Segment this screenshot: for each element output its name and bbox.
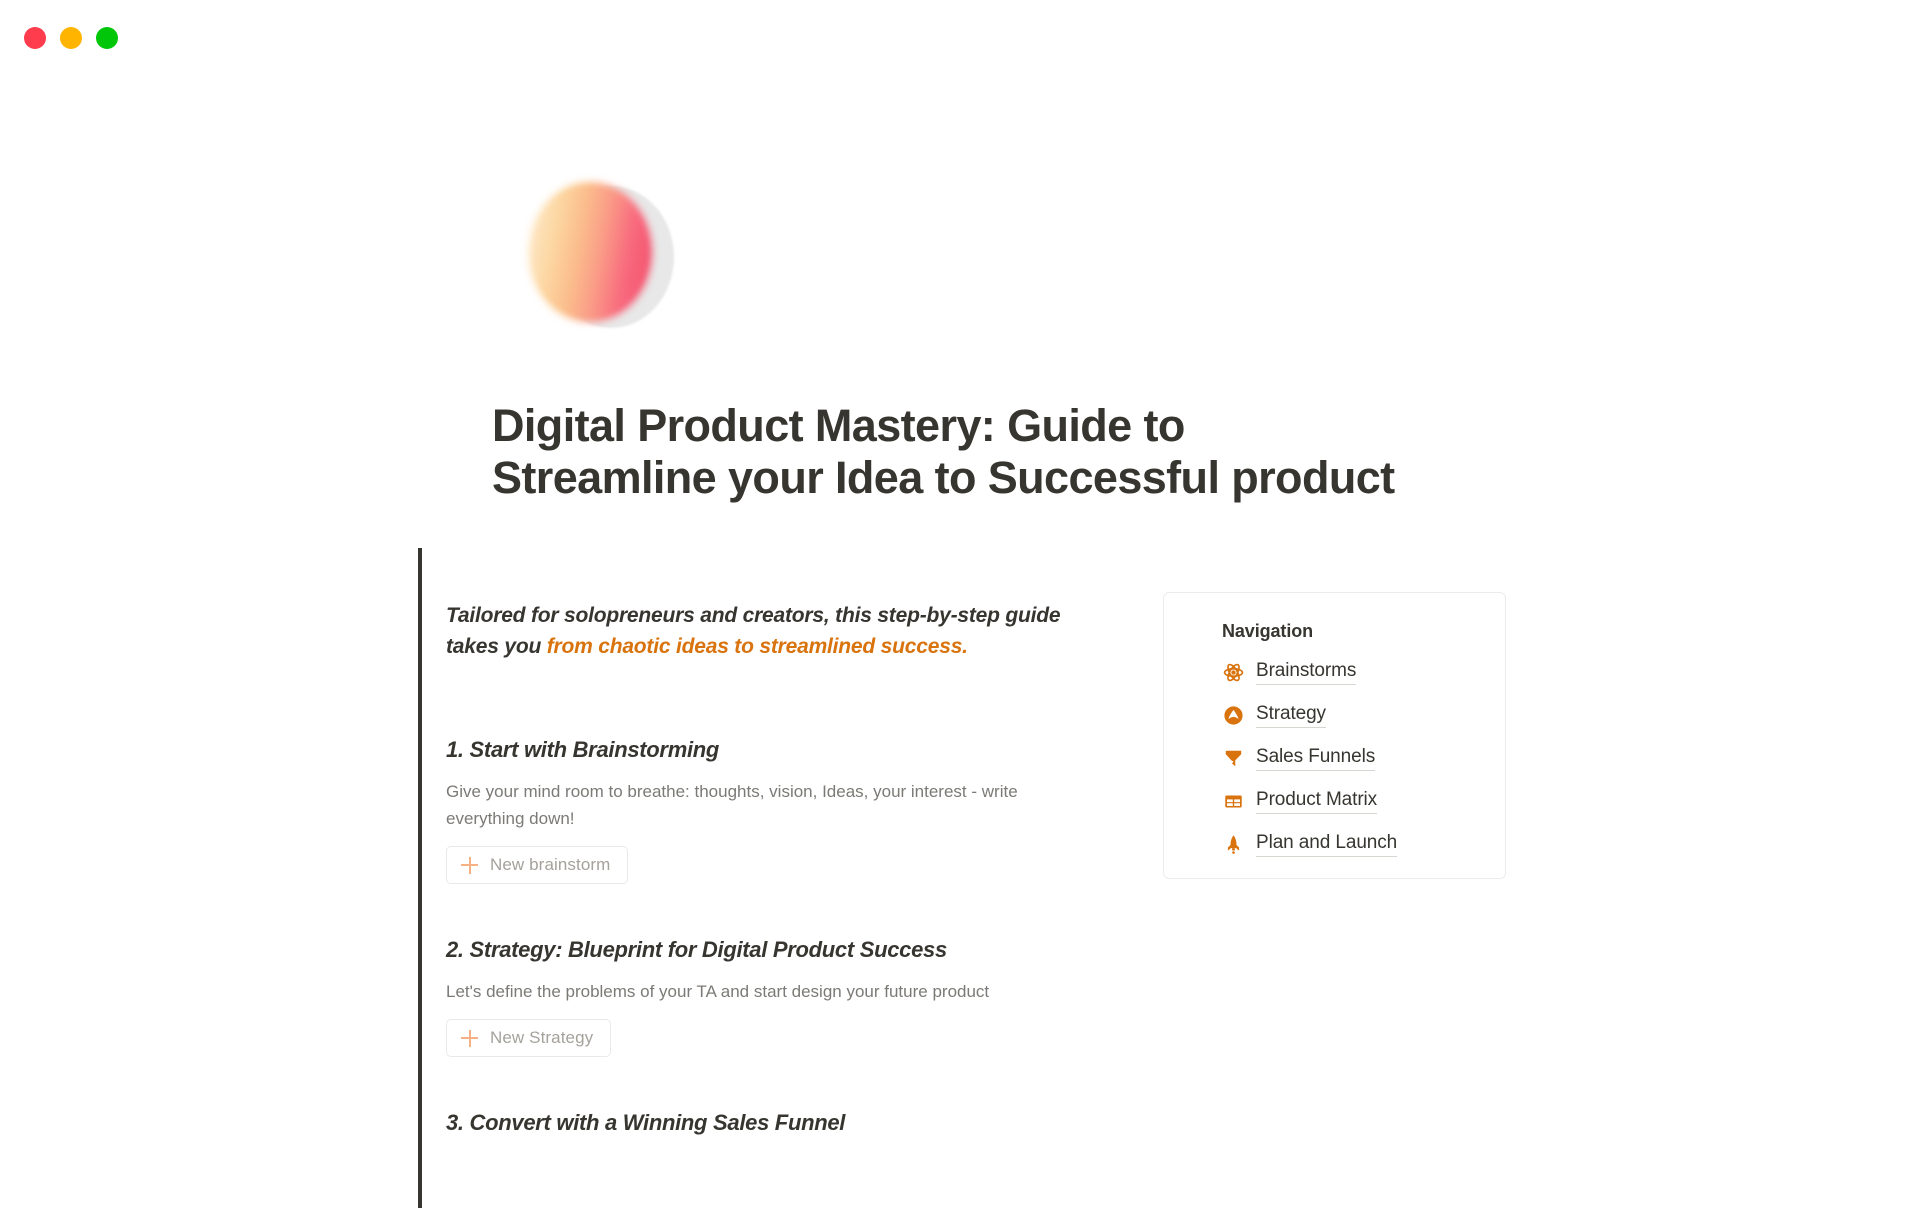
section-body: Give your mind room to breathe: thoughts…	[446, 778, 1076, 832]
page-cover-icon[interactable]	[522, 178, 672, 333]
section-body: Let's define the problems of your TA and…	[446, 978, 1076, 1005]
nav-item-label: Strategy	[1256, 703, 1326, 728]
window-maximize-button[interactable]	[96, 27, 118, 49]
rocket-icon	[1222, 834, 1244, 856]
window-minimize-button[interactable]	[60, 27, 82, 49]
section-sales-funnel: 3. Convert with a Winning Sales Funnel	[446, 1109, 1126, 1137]
app-page: Digital Product Mastery: Guide to Stream…	[0, 0, 1920, 1200]
section-heading: 3. Convert with a Winning Sales Funnel	[446, 1109, 1126, 1137]
page-title[interactable]: Digital Product Mastery: Guide to Stream…	[492, 400, 1412, 504]
lede-paragraph: Tailored for solopreneurs and creators, …	[446, 600, 1091, 662]
nav-item-label: Sales Funnels	[1256, 746, 1375, 771]
nav-item-sales-funnels[interactable]: Sales Funnels	[1222, 737, 1505, 780]
section-heading: 2. Strategy: Blueprint for Digital Produ…	[446, 936, 1126, 964]
target-drop-icon	[1222, 705, 1244, 727]
window-close-button[interactable]	[24, 27, 46, 49]
new-strategy-button-label: New Strategy	[490, 1028, 593, 1048]
quote-divider-bar	[418, 548, 422, 1208]
new-brainstorm-button-label: New brainstorm	[490, 855, 610, 875]
navigation-panel: Navigation Brainstorms	[1163, 592, 1506, 879]
new-strategy-button[interactable]: New Strategy	[446, 1019, 611, 1057]
section-heading: 1. Start with Brainstorming	[446, 736, 1126, 764]
atom-icon	[1222, 662, 1244, 684]
nav-item-label: Brainstorms	[1256, 660, 1356, 685]
nav-item-brainstorms[interactable]: Brainstorms	[1222, 651, 1505, 694]
navigation-heading: Navigation	[1222, 621, 1505, 642]
section-brainstorming: 1. Start with Brainstorming Give your mi…	[446, 736, 1126, 884]
window-titlebar	[0, 0, 1920, 76]
gradient-sphere-icon	[534, 188, 646, 316]
nav-item-label: Product Matrix	[1256, 789, 1377, 814]
lede-highlight-text: from chaotic ideas to streamlined succes…	[547, 635, 968, 658]
nav-item-plan-and-launch[interactable]: Plan and Launch	[1222, 823, 1505, 866]
plus-icon	[461, 857, 478, 874]
table-grid-icon	[1222, 791, 1244, 813]
nav-item-strategy[interactable]: Strategy	[1222, 694, 1505, 737]
main-column: Tailored for solopreneurs and creators, …	[446, 548, 1126, 1137]
quote-block: Tailored for solopreneurs and creators, …	[418, 548, 1528, 1208]
nav-item-label: Plan and Launch	[1256, 832, 1397, 857]
plus-icon	[461, 1030, 478, 1047]
nav-item-product-matrix[interactable]: Product Matrix	[1222, 780, 1505, 823]
section-strategy: 2. Strategy: Blueprint for Digital Produ…	[446, 936, 1126, 1057]
funnel-icon	[1222, 748, 1244, 770]
new-brainstorm-button[interactable]: New brainstorm	[446, 846, 628, 884]
